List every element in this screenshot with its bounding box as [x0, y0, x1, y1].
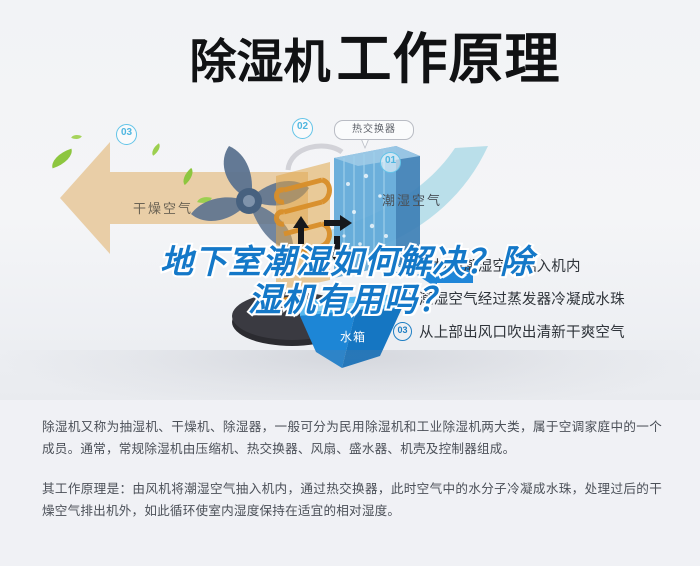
- article-body: 除湿机又称为抽湿机、干燥机、除湿器，一般可分为民用除湿机和工业除湿机两大类，属于…: [42, 416, 662, 522]
- step-text: 风机将潮湿空气抽入机内: [419, 255, 581, 276]
- heat-exchanger-callout: 热交换器: [334, 120, 414, 140]
- diagram-badge-02: 02: [292, 118, 313, 139]
- article-paragraph-2: 其工作原理是：由风机将潮湿空气抽入机内，通过热交换器，此时空气中的水分子冷凝成水…: [42, 478, 662, 522]
- page-root: 除湿机工作原理 干燥空气: [0, 0, 700, 566]
- list-item: 02 潮湿空气经过蒸发器冷凝成水珠: [393, 282, 663, 315]
- article-paragraph-1: 除湿机又称为抽湿机、干燥机、除湿器，一般可分为民用除湿机和工业除湿机两大类，属于…: [42, 416, 662, 460]
- title-part-1: 除湿机: [189, 35, 330, 88]
- list-item: 03 从上部出风口吹出清新干爽空气: [393, 315, 663, 348]
- step-badge: 01: [393, 256, 412, 275]
- water-tank-label: 水箱: [340, 328, 366, 345]
- page-title: 除湿机工作原理: [165, 32, 585, 87]
- title-part-2: 工作原理: [336, 28, 560, 90]
- steps-list: 01 风机将潮湿空气抽入机内 02 潮湿空气经过蒸发器冷凝成水珠 03 从上部出…: [393, 249, 663, 348]
- list-item: 01 风机将潮湿空气抽入机内: [393, 249, 663, 282]
- infographic-image: 除湿机工作原理 干燥空气: [0, 0, 700, 400]
- step-badge: 02: [393, 289, 412, 308]
- step-badge: 03: [393, 322, 412, 341]
- humid-air-label: 潮湿空气: [382, 190, 442, 209]
- diagram-badge-03: 03: [116, 124, 137, 145]
- diagram-badge-01: 01: [380, 152, 401, 173]
- step-text: 潮湿空气经过蒸发器冷凝成水珠: [419, 288, 625, 309]
- dry-air-label: 干燥空气: [133, 198, 193, 217]
- step-text: 从上部出风口吹出清新干爽空气: [419, 321, 625, 342]
